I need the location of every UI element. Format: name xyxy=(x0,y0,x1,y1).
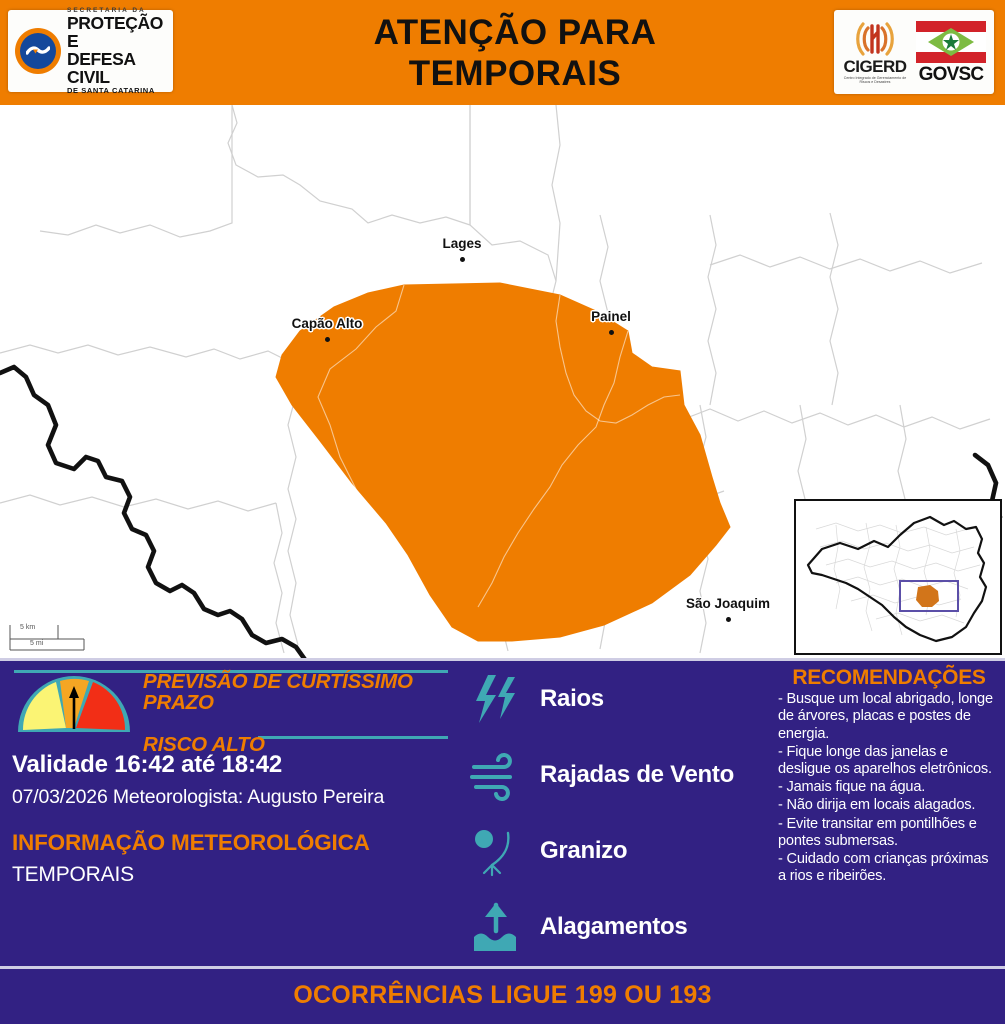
hail-icon xyxy=(470,825,522,877)
risk-gauge-icon xyxy=(14,674,134,736)
hazard-label: Alagamentos xyxy=(540,913,687,941)
panel-top-divider xyxy=(0,658,1005,661)
logo-defesa-civil-line: DEFESA CIVIL xyxy=(67,51,166,86)
meteorological-info-title: INFORMAÇÃO METEOROLÓGICA xyxy=(12,830,370,856)
defesa-civil-wordmark: SECRETARIA DA PROTEÇÃO E DEFESA CIVIL DE… xyxy=(67,8,166,95)
hazard-label: Raios xyxy=(540,685,604,713)
alert-bulletin: SECRETARIA DA PROTEÇÃO E DEFESA CIVIL DE… xyxy=(0,0,1005,1024)
alert-map[interactable]: Lages Capão Alto Painel São Joaquim 5 km… xyxy=(0,105,1005,658)
recommendation-item: - Não dirija em locais alagados. xyxy=(778,797,1000,814)
footer-bar: OCORRÊNCIAS LIGUE 199 OU 193 xyxy=(0,966,1005,1024)
info-panel: PREVISÃO DE CURTÍSSIMO PRAZO RISCO ALTO … xyxy=(0,658,1005,966)
santa-catarina-flag-icon xyxy=(916,21,986,63)
cigerd-mark-icon xyxy=(853,20,897,58)
alert-title-line-1: ATENÇÃO PARA xyxy=(374,12,657,53)
flooding-icon xyxy=(470,901,522,953)
logo-santa-catarina-line: DE SANTA CATARINA xyxy=(67,87,166,95)
partner-logos: CIGERD Centro Integrado de Gerenciamento… xyxy=(834,10,994,94)
recommendation-item: - Fique longe das janelas e desligue os … xyxy=(778,744,1000,778)
city-dot xyxy=(325,337,330,342)
city-label: São Joaquim xyxy=(686,596,770,611)
forecast-type-label: PREVISÃO DE CURTÍSSIMO PRAZO xyxy=(143,672,448,713)
risk-heading-block: PREVISÃO DE CURTÍSSIMO PRAZO RISCO ALTO xyxy=(143,672,448,742)
city-dot xyxy=(726,617,731,622)
recommendation-item: - Cuidado com crianças próximas a rios e… xyxy=(778,851,1000,885)
hazard-item-rajadas-de-vento[interactable]: Rajadas de Vento xyxy=(470,746,734,804)
hazard-item-granizo[interactable]: Granizo xyxy=(470,822,627,880)
cigerd-logo: CIGERD Centro Integrado de Gerenciamento… xyxy=(840,20,910,85)
recommendation-item: - Evite transitar em pontilhões e pontes… xyxy=(778,816,1000,850)
validity-period: Validade 16:42 até 18:42 xyxy=(12,751,282,779)
meteorological-info-value: TEMPORAIS xyxy=(12,863,134,887)
locator-inset-map[interactable] xyxy=(794,499,1002,655)
date-meteorologist-line: 07/03/2026 Meteorologista: Augusto Perei… xyxy=(12,786,384,809)
recommendations-title: RECOMENDAÇÕES xyxy=(778,666,1000,689)
cigerd-name: CIGERD xyxy=(843,58,906,75)
defesa-civil-emblem-icon xyxy=(15,28,61,74)
cigerd-subtitle: Centro Integrado de Gerenciamento de Ris… xyxy=(840,76,910,85)
hazard-label: Granizo xyxy=(540,837,627,865)
govsc-name: GOVSC xyxy=(919,65,984,84)
hazard-label: Rajadas de Vento xyxy=(540,761,734,789)
emergency-phone-text: OCORRÊNCIAS LIGUE 199 OU 193 xyxy=(0,966,1005,1024)
city-label: Capão Alto xyxy=(292,316,363,331)
recommendations-list: - Busque um local abrigado, longe de árv… xyxy=(778,691,1000,885)
scale-label-mi: 5 mi xyxy=(30,640,43,647)
alert-title: ATENÇÃO PARA TEMPORAIS xyxy=(235,10,795,96)
alert-area-polygon[interactable] xyxy=(276,283,730,641)
recommendations-block: RECOMENDAÇÕES - Busque um local abrigado… xyxy=(778,666,1000,887)
city-label: Lages xyxy=(442,236,481,251)
city-label: Painel xyxy=(591,309,631,324)
city-dot xyxy=(460,257,465,262)
hazard-item-raios[interactable]: Raios xyxy=(470,670,604,728)
logo-protecao-line: PROTEÇÃO E xyxy=(67,15,166,50)
recommendation-item: - Busque um local abrigado, longe de árv… xyxy=(778,691,1000,743)
swoosh-icon xyxy=(26,45,50,57)
lightning-bolts-icon xyxy=(470,673,522,725)
city-dot xyxy=(609,330,614,335)
hazard-list: Raios Rajadas de Vento xyxy=(470,670,770,960)
recommendation-item: - Jamais fique na água. xyxy=(778,779,1000,796)
govsc-logo: GOVSC xyxy=(914,21,988,84)
hazard-item-alagamentos[interactable]: Alagamentos xyxy=(470,898,687,956)
wind-gust-icon xyxy=(470,749,522,801)
defesa-civil-sc-logo: SECRETARIA DA PROTEÇÃO E DEFESA CIVIL DE… xyxy=(8,10,173,92)
header-bar: SECRETARIA DA PROTEÇÃO E DEFESA CIVIL DE… xyxy=(0,0,1005,105)
locator-inset-svg xyxy=(796,501,1000,653)
alert-title-line-2: TEMPORAIS xyxy=(409,53,622,94)
scale-label-km: 5 km xyxy=(20,624,35,631)
